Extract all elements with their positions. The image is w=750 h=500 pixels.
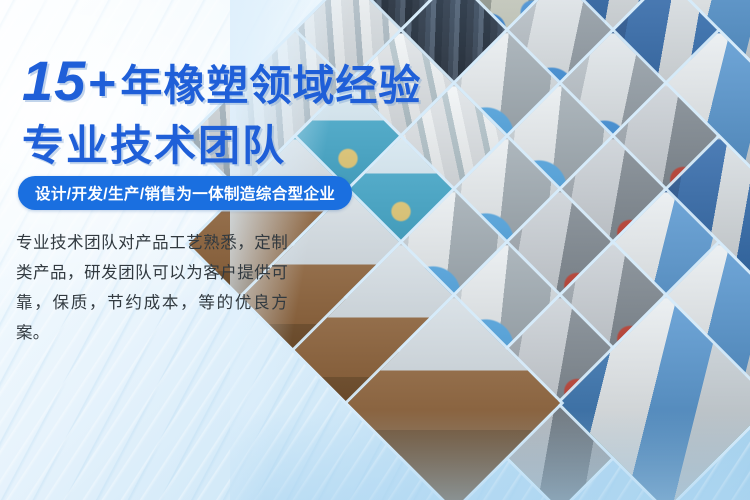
plus-sign: +: [88, 58, 116, 111]
tagline-pill: 设计/开发/生产/销售为一体制造综合型企业: [18, 176, 352, 210]
years-number: 15: [22, 49, 86, 112]
body-paragraph: 专业技术团队对产品工艺熟悉，定制类产品，研发团队可以为客户提供可靠，保质，节约成…: [16, 228, 288, 348]
banner-text-block: 15+年橡塑领域经验 专业技术团队 设计/开发/生产/销售为一体制造综合型企业 …: [0, 0, 400, 500]
headline-line-2: 专业技术团队: [22, 112, 286, 173]
tagline-text: 设计/开发/生产/销售为一体制造综合型企业: [35, 182, 335, 204]
headline-line-1-text: 年橡塑领域经验: [120, 62, 421, 109]
headline-line-1: 15+年橡塑领域经验: [22, 52, 452, 110]
company-profile-banner: 15+年橡塑领域经验 专业技术团队 设计/开发/生产/销售为一体制造综合型企业 …: [0, 0, 750, 500]
